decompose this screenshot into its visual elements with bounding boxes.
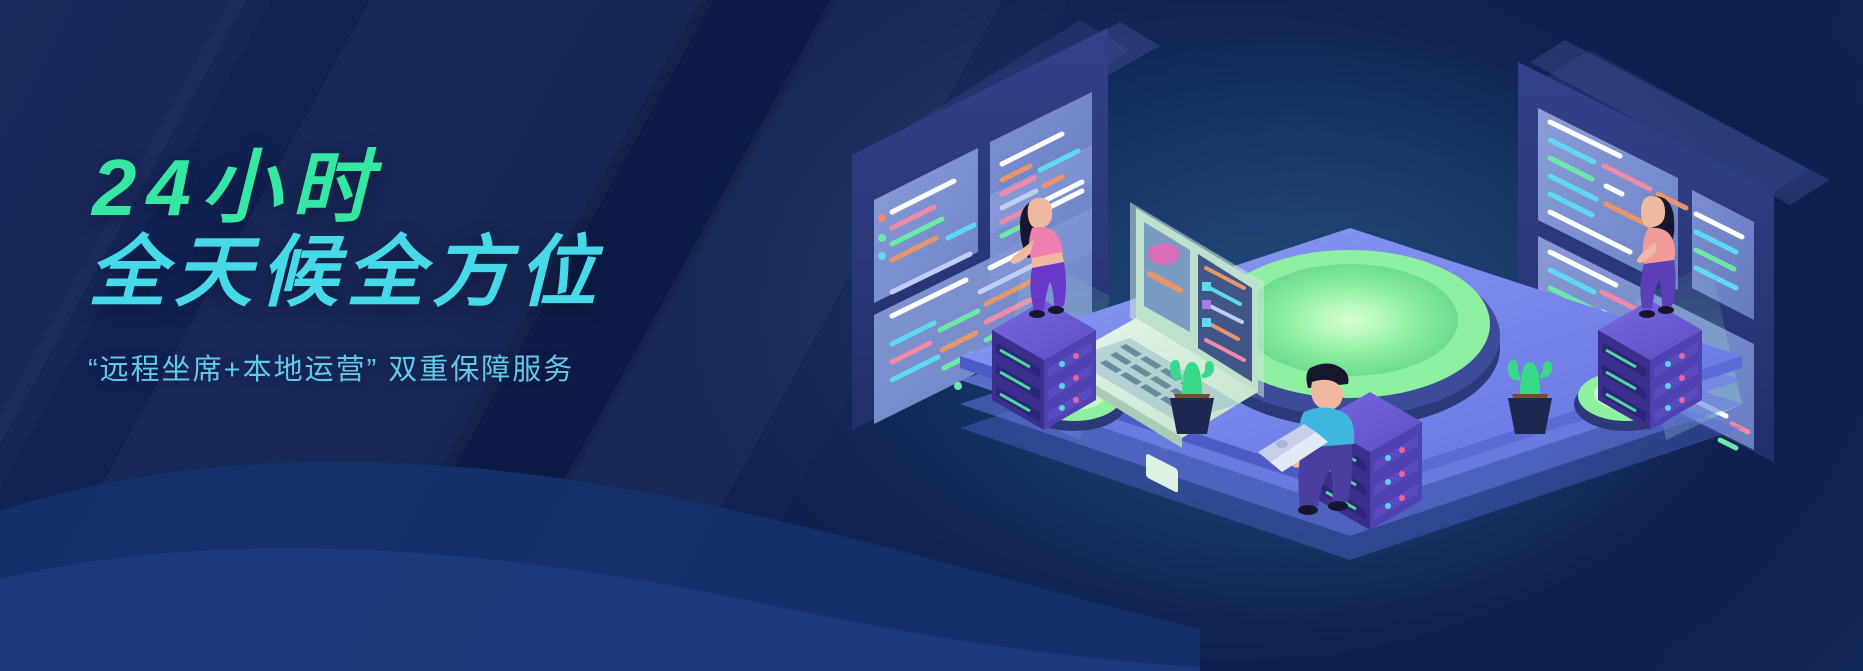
woman-l-head [1028, 198, 1053, 229]
cactus-right [1508, 360, 1552, 434]
woman-r-shoe-2 [1658, 306, 1674, 314]
illustration [830, 0, 1863, 671]
hero-banner: 24小时 全天候全方位 “远程坐席+本地运营” 双重保障服务 [0, 0, 1863, 671]
woman-r-head [1641, 196, 1665, 227]
headline-line-1: 24小时 [92, 150, 828, 227]
laptop-avatar [1148, 243, 1180, 265]
cactus-left [1170, 360, 1214, 434]
headline-line-2: 全天候全方位 [88, 235, 828, 310]
cactus-r-pot [1508, 398, 1552, 434]
woman-l-shoe-2 [1048, 306, 1064, 314]
copy-block: 24小时 全天候全方位 “远程坐席+本地运营” 双重保障服务 [88, 150, 828, 388]
cactus-l-pot [1170, 398, 1214, 434]
man-shoe-2 [1328, 501, 1348, 511]
woman-l-shoe-1 [1029, 310, 1045, 318]
woman-r-shoe-1 [1639, 310, 1655, 318]
man-laptop-logo [1276, 440, 1288, 448]
man-shoe-1 [1298, 505, 1318, 515]
subtitle: “远程坐席+本地运营” 双重保障服务 [88, 346, 828, 388]
disc-glow-inner [1242, 264, 1458, 376]
